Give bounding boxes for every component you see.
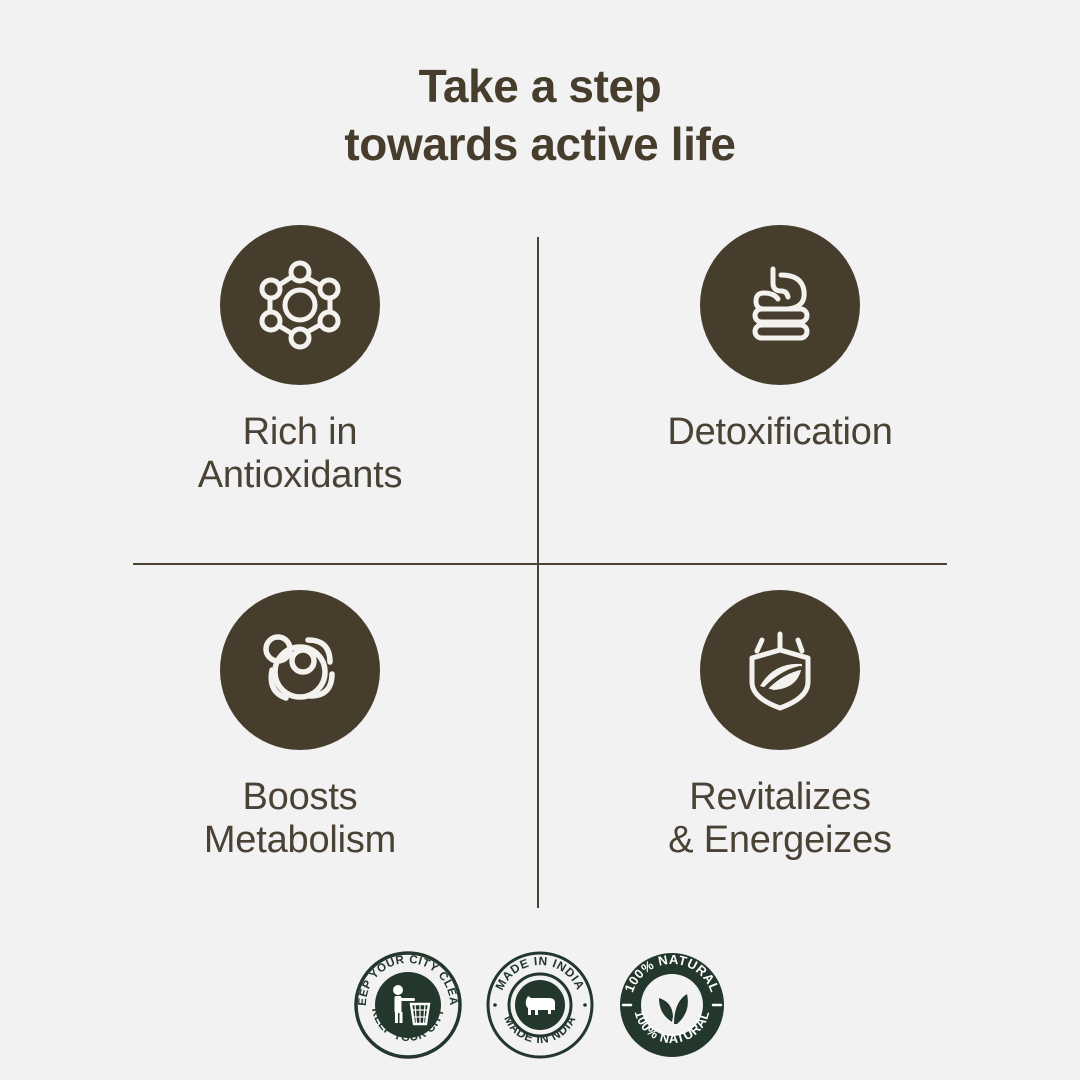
feature-label-metabolism: Boosts Metabolism (204, 776, 396, 861)
vertical-divider (537, 237, 539, 908)
feature-label-revitalizes: Revitalizes & Energeizes (668, 776, 892, 861)
page-title-line-2: towards active life (0, 116, 1080, 174)
poster-canvas: Take a step towards active life (0, 0, 1080, 1080)
feature-label-line-1: Revitalizes (668, 776, 892, 819)
keep-your-city-clean-badge: KEEP YOUR CITY CLEAN KEEP YOUR CITY (353, 950, 463, 1060)
certification-badges: KEEP YOUR CITY CLEAN KEEP YOUR CITY (0, 950, 1080, 1060)
page-title: Take a step towards active life (0, 58, 1080, 173)
feature-card-metabolism: Boosts Metabolism (90, 590, 510, 861)
feature-card-revitalizes: Revitalizes & Energeizes (570, 590, 990, 861)
feature-label-line-1: Boosts (204, 776, 396, 819)
feature-label-line-2: & Energeizes (668, 819, 892, 862)
made-in-india-badge: MADE IN INDIA MADE IN NDIA (485, 950, 595, 1060)
molecule-antioxidant-icon (220, 225, 380, 385)
feature-card-antioxidants: Rich in Antioxidants (90, 225, 510, 496)
feature-label-antioxidants: Rich in Antioxidants (198, 411, 403, 496)
page-title-line-1: Take a step (0, 58, 1080, 116)
feature-label-line-2: Metabolism (204, 819, 396, 862)
feature-label-line-1: Detoxification (667, 411, 892, 454)
horizontal-divider (133, 563, 947, 565)
feature-card-detoxification: Detoxification (570, 225, 990, 454)
shield-leaf-energy-icon (700, 590, 860, 750)
feature-label-line-1: Rich in (198, 411, 403, 454)
atom-metabolism-icon (220, 590, 380, 750)
100-percent-natural-badge: 100% NATURAL 100% NATURAL (617, 950, 727, 1060)
feature-label-detoxification: Detoxification (667, 411, 892, 454)
feature-grid: Rich in Antioxidants De (0, 205, 1080, 925)
feature-label-line-2: Antioxidants (198, 454, 403, 497)
stomach-intestine-icon (700, 225, 860, 385)
